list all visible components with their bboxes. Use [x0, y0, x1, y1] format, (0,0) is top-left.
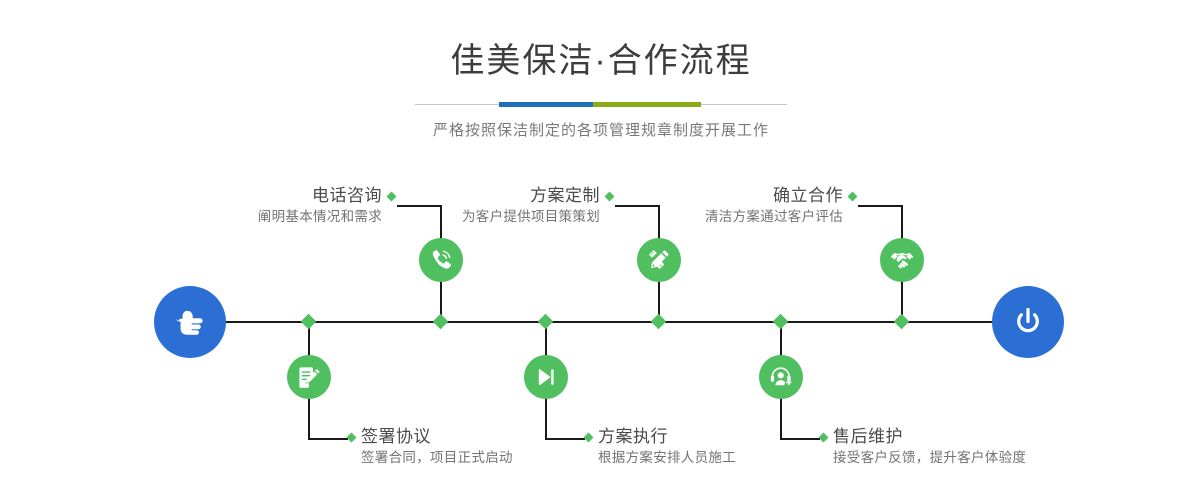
label-diamond-5 [848, 192, 858, 202]
title-divider [415, 104, 787, 105]
connector-horizontal-6 [780, 438, 820, 440]
connector-horizontal-4 [545, 438, 585, 440]
step-icon-4[interactable] [524, 355, 568, 399]
step-label-4: 方案执行 根据方案安排人员施工 [585, 426, 736, 468]
label-diamond-6 [819, 433, 829, 443]
page-header: 佳美保洁·合作流程 严格按照保洁制定的各项管理规章制度开展工作 [0, 0, 1202, 140]
pointing-hand-icon [170, 302, 210, 342]
step-icon-5[interactable] [880, 238, 924, 282]
step-icon-1[interactable] [419, 238, 463, 282]
connector-horizontal-2 [308, 438, 348, 440]
timeline-marker-2 [301, 314, 317, 330]
step-title-2: 签署协议 [361, 427, 431, 446]
step-subtitle-4: 根据方案安排人员施工 [585, 448, 736, 468]
timeline-marker-1 [433, 314, 449, 330]
power-icon [1008, 302, 1048, 342]
step-title-6: 售后维护 [833, 427, 903, 446]
step-icon-6[interactable] [759, 355, 803, 399]
timeline-marker-5 [894, 314, 910, 330]
timeline-start-node[interactable] [154, 286, 226, 358]
divider-green-segment [593, 102, 701, 107]
page-subtitle: 严格按照保洁制定的各项管理规章制度开展工作 [0, 119, 1202, 140]
label-diamond-2 [347, 433, 357, 443]
step-label-6: 售后维护 接受客户反馈，提升客户体验度 [820, 426, 1026, 468]
customer-support-icon [768, 364, 794, 390]
step-label-5: 确立合作 清洁方案通过客户评估 [520, 185, 856, 227]
step-icon-2[interactable] [287, 355, 331, 399]
step-label-2: 签署协议 签署合同，项目正式启动 [348, 426, 513, 468]
step-subtitle-5: 清洁方案通过客户评估 [520, 207, 856, 227]
divider-blue-segment [499, 102, 593, 107]
pencil-ruler-icon [646, 247, 672, 273]
flow-diagram-page: 佳美保洁·合作流程 严格按照保洁制定的各项管理规章制度开展工作 [0, 0, 1202, 502]
process-timeline: 电话咨询 阐明基本情况和需求 签署协议 签署合同，项目正式启动 [0, 150, 1202, 502]
timeline-marker-6 [773, 314, 789, 330]
handshake-icon [889, 247, 915, 273]
step-subtitle-2: 签署合同，项目正式启动 [348, 448, 513, 468]
timeline-marker-4 [538, 314, 554, 330]
play-skip-icon [533, 364, 559, 390]
step-icon-3[interactable] [637, 238, 681, 282]
timeline-end-node[interactable] [992, 286, 1064, 358]
timeline-marker-3 [651, 314, 667, 330]
contract-signing-icon [296, 364, 322, 390]
step-subtitle-6: 接受客户反馈，提升客户体验度 [820, 448, 1026, 468]
connector-horizontal-5 [858, 205, 903, 207]
label-diamond-4 [584, 433, 594, 443]
step-title-5: 确立合作 [773, 186, 843, 205]
step-title-4: 方案执行 [598, 427, 668, 446]
page-title: 佳美保洁·合作流程 [0, 44, 1202, 78]
phone-call-icon [428, 247, 454, 273]
